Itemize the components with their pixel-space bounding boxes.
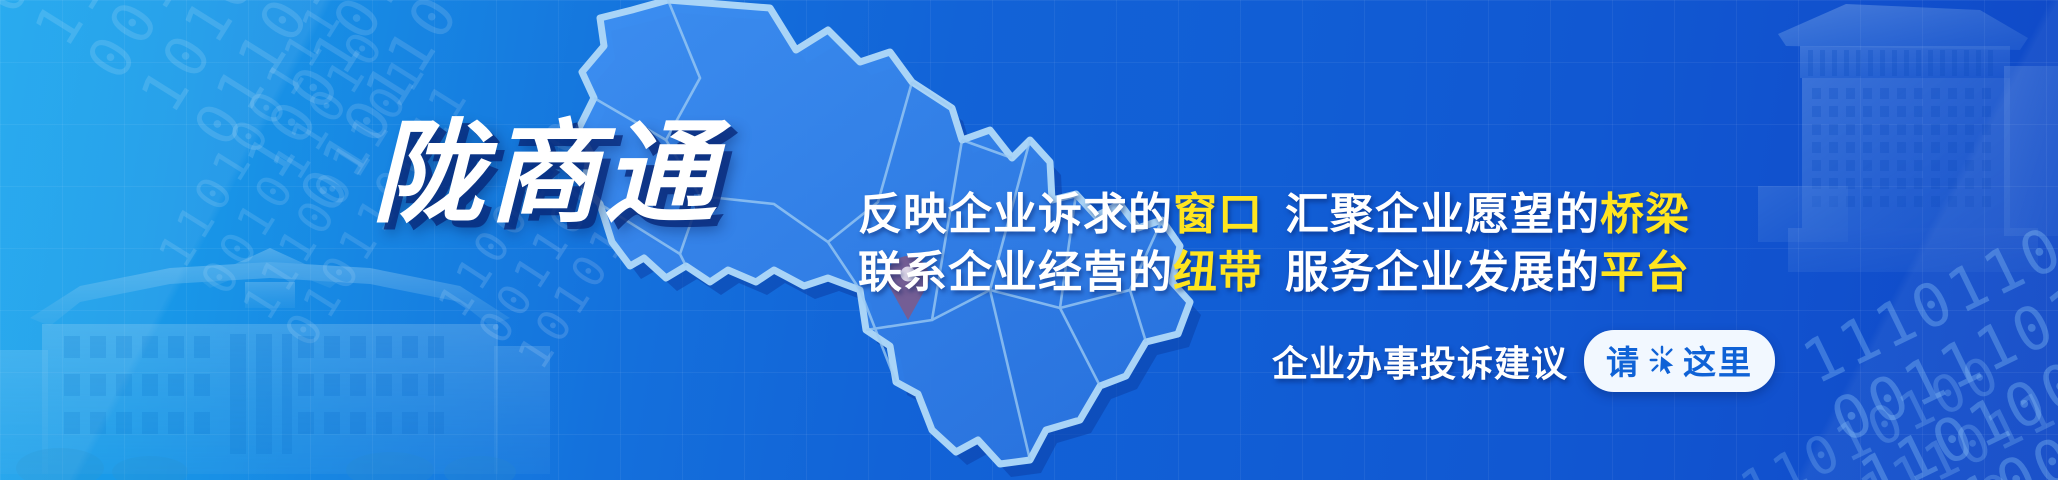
binary-texture-right-secondary: 11010100 100111011 0110010 [1732,330,2058,480]
tagline-2-prefix: 联系企业经营的 [858,248,1173,297]
tagline-group: 反映企业诉求的窗口汇聚企业愿望的桥梁 联系企业经营的纽带服务企业发展的平台 [858,186,1688,302]
modern-government-tower [1728,0,2058,296]
click-here-button[interactable]: 请 这里 [1584,330,1775,392]
tagline-line-1: 反映企业诉求的窗口汇聚企业愿望的桥梁 [858,186,1688,244]
tagline-line-2: 联系企业经营的纽带服务企业发展的平台 [858,244,1688,302]
traditional-government-building [0,240,550,480]
click-here-suffix: 这里 [1683,336,1753,384]
tagline-1-prefix-2: 汇聚企业愿望的 [1285,190,1600,239]
tagline-1-highlight: 窗口 [1173,190,1263,239]
tagline-2-highlight: 纽带 [1173,248,1263,297]
click-cursor-icon [1647,345,1677,375]
tagline-2-prefix-2: 服务企业发展的 [1285,248,1600,297]
binary-texture-right: 111011000 001110101 110100111 011001110 [1793,180,2058,480]
cta-label: 企业办事投诉建议 [1272,335,1568,387]
tagline-1-prefix: 反映企业诉求的 [858,190,1173,239]
click-here-prefix: 请 [1606,336,1641,384]
promo-banner: 0101001101 1100100110 0011010011 1010011… [0,0,2058,480]
page-title: 陇商通 [372,118,720,230]
tagline-2-highlight-2: 平台 [1600,248,1690,297]
tagline-1-highlight-2: 桥梁 [1600,190,1690,239]
cta-row: 企业办事投诉建议 请 这里 [1272,330,1775,392]
